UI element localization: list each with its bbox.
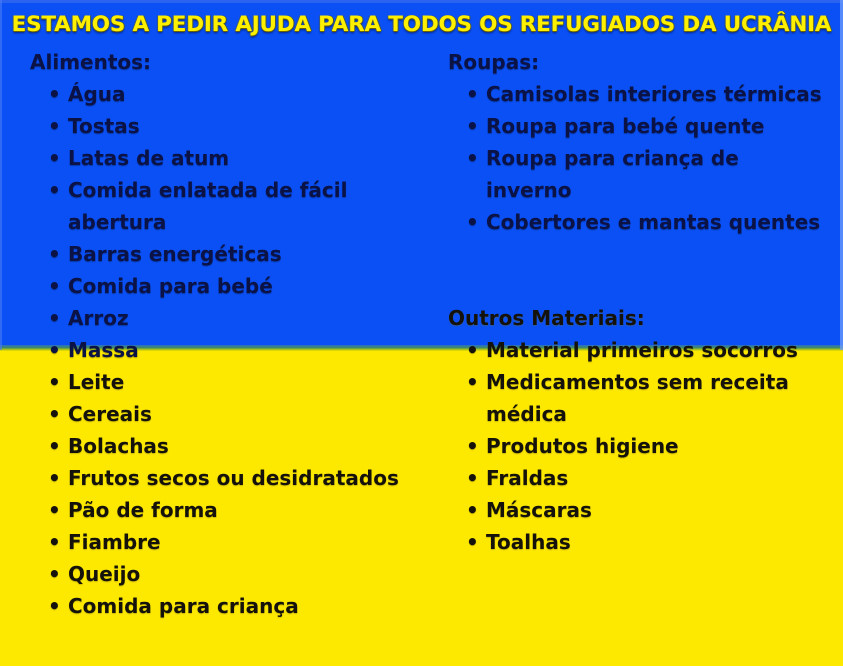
list-item: Latas de atum	[30, 142, 430, 174]
list-item: Tostas	[30, 110, 430, 142]
list-item: Medicamentos sem receita médica	[448, 366, 828, 430]
list-item: Camisolas interiores térmicas	[448, 78, 828, 110]
list-item: Fiambre	[30, 526, 430, 558]
list-item: Roupa para bebé quente	[448, 110, 828, 142]
list-item: Frutos secos ou desidratados	[30, 462, 430, 494]
list-item: Máscaras	[448, 494, 828, 526]
column-roupas-outros: Roupas: Camisolas interiores térmicas Ro…	[448, 46, 828, 558]
poster-canvas: ESTAMOS A PEDIR AJUDA PARA TODOS OS REFU…	[0, 0, 843, 666]
list-item: Barras energéticas	[30, 238, 430, 270]
list-item: Leite	[30, 366, 430, 398]
top-edge-strip	[0, 0, 843, 3]
list-item: Queijo	[30, 558, 430, 590]
list-item: Massa	[30, 334, 430, 366]
list-item: Fraldas	[448, 462, 828, 494]
heading-roupas: Roupas:	[448, 46, 828, 78]
list-item: Material primeiros socorros	[448, 334, 828, 366]
list-alimentos-blue: Água Tostas Latas de atum Comida enlatad…	[30, 78, 430, 366]
left-edge-strip	[0, 0, 2, 350]
list-item: Cobertores e mantas quentes	[448, 206, 828, 238]
list-item: Comida enlatada de fácil abertura	[30, 174, 430, 238]
list-item: Pão de forma	[30, 494, 430, 526]
list-item: Comida para bebé	[30, 270, 430, 302]
heading-outros-materiais: Outros Materiais:	[448, 302, 828, 334]
list-item: Arroz	[30, 302, 430, 334]
list-roupas: Camisolas interiores térmicas Roupa para…	[448, 78, 828, 238]
list-item: Água	[30, 78, 430, 110]
list-item: Produtos higiene	[448, 430, 828, 462]
list-item: Toalhas	[448, 526, 828, 558]
column-alimentos: Alimentos: Água Tostas Latas de atum Com…	[30, 46, 430, 622]
heading-alimentos: Alimentos:	[30, 46, 430, 78]
list-alimentos-yellow: Leite Cereais Bolachas Frutos secos ou d…	[30, 366, 430, 622]
list-item: Bolachas	[30, 430, 430, 462]
list-item: Roupa para criança de inverno	[448, 142, 828, 206]
list-item: Comida para criança	[30, 590, 430, 622]
poster-title: ESTAMOS A PEDIR AJUDA PARA TODOS OS REFU…	[0, 12, 843, 37]
list-outros-materiais: Material primeiros socorros Medicamentos…	[448, 334, 828, 558]
list-item: Cereais	[30, 398, 430, 430]
